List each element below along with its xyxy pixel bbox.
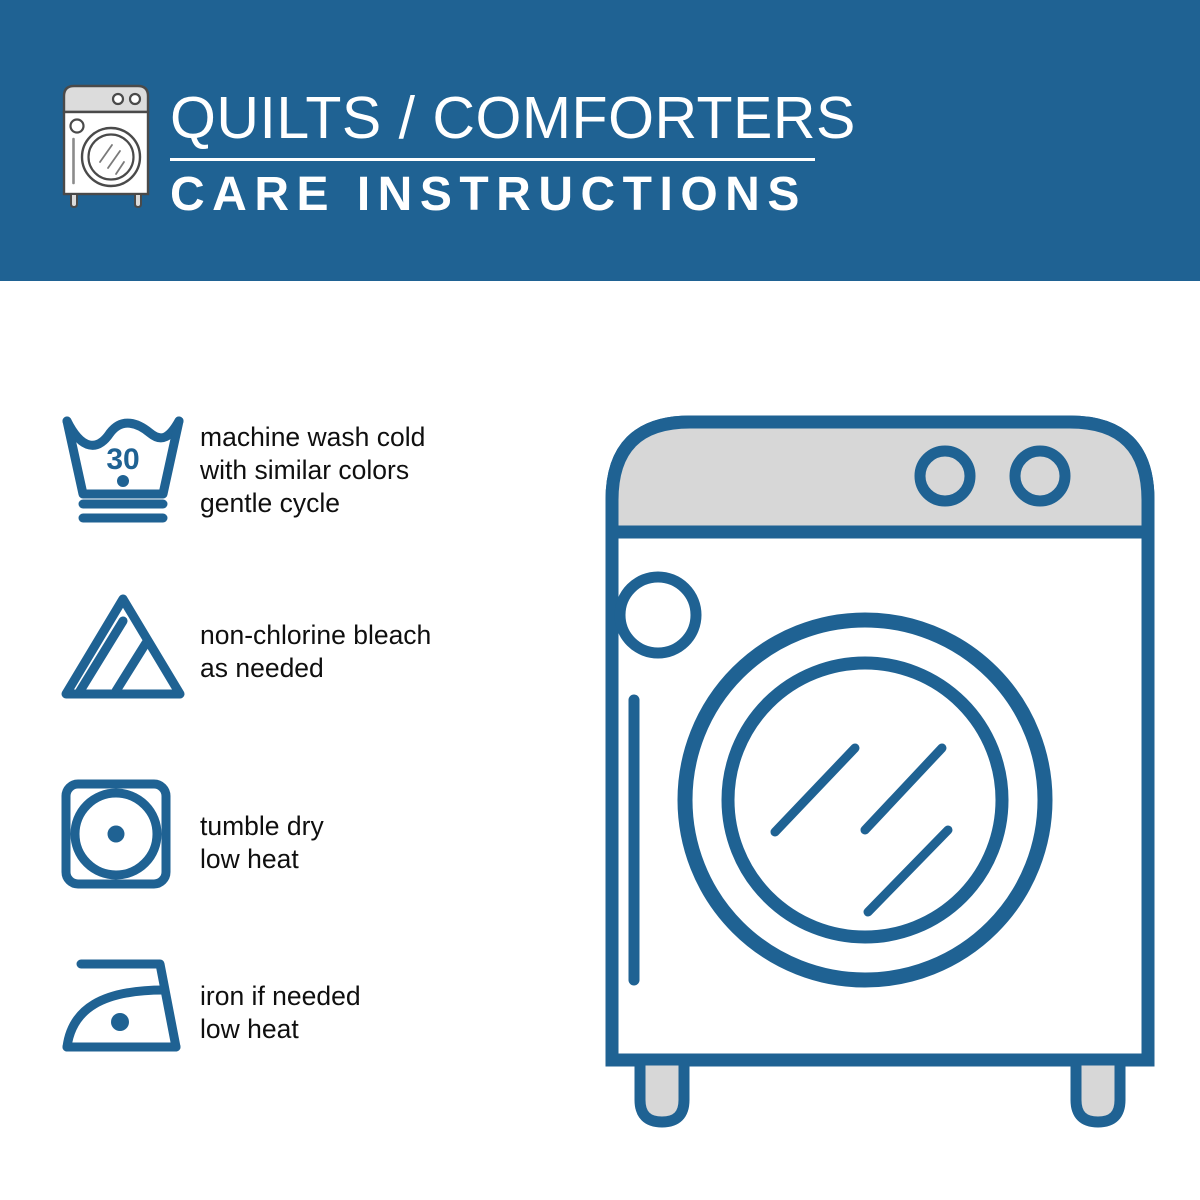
title-divider	[170, 158, 815, 161]
tumble-dry-low-heat-icon	[0, 778, 200, 890]
leg-right	[1076, 1060, 1120, 1122]
header-band: QUILTS / COMFORTERS CARE INSTRUCTIONS	[0, 0, 1200, 281]
care-text-iron: iron if needed low heat	[200, 954, 361, 1046]
washing-machine-illustration	[590, 400, 1170, 1130]
care-instruction-list: 30 machine wash cold with similar colors…	[0, 281, 560, 1200]
header-text-block: QUILTS / COMFORTERS CARE INSTRUCTIONS	[170, 86, 830, 222]
page-subtitle: CARE INSTRUCTIONS	[170, 168, 830, 222]
machine-wash-30-gentle-icon: 30	[0, 411, 200, 523]
non-chlorine-bleach-triangle-icon	[0, 591, 200, 701]
leg-left	[640, 1060, 684, 1122]
care-row-bleach: non-chlorine bleach as needed	[0, 591, 560, 701]
page-title: QUILTS / COMFORTERS	[170, 86, 830, 150]
header-washing-machine-icon	[54, 82, 158, 209]
care-row-machine-wash: 30 machine wash cold with similar colors…	[0, 411, 560, 523]
wash-temperature-value: 30	[106, 443, 139, 476]
care-row-tumble-dry: tumble dry low heat	[0, 778, 560, 890]
care-text-tumble-dry: tumble dry low heat	[200, 778, 324, 876]
iron-low-heat-icon	[0, 954, 200, 1056]
care-instructions-infographic: QUILTS / COMFORTERS CARE INSTRUCTIONS 30	[0, 0, 1200, 1200]
care-text-bleach: non-chlorine bleach as needed	[200, 591, 431, 685]
care-text-machine-wash: machine wash cold with similar colors ge…	[200, 411, 425, 520]
care-row-iron: iron if needed low heat	[0, 954, 560, 1056]
